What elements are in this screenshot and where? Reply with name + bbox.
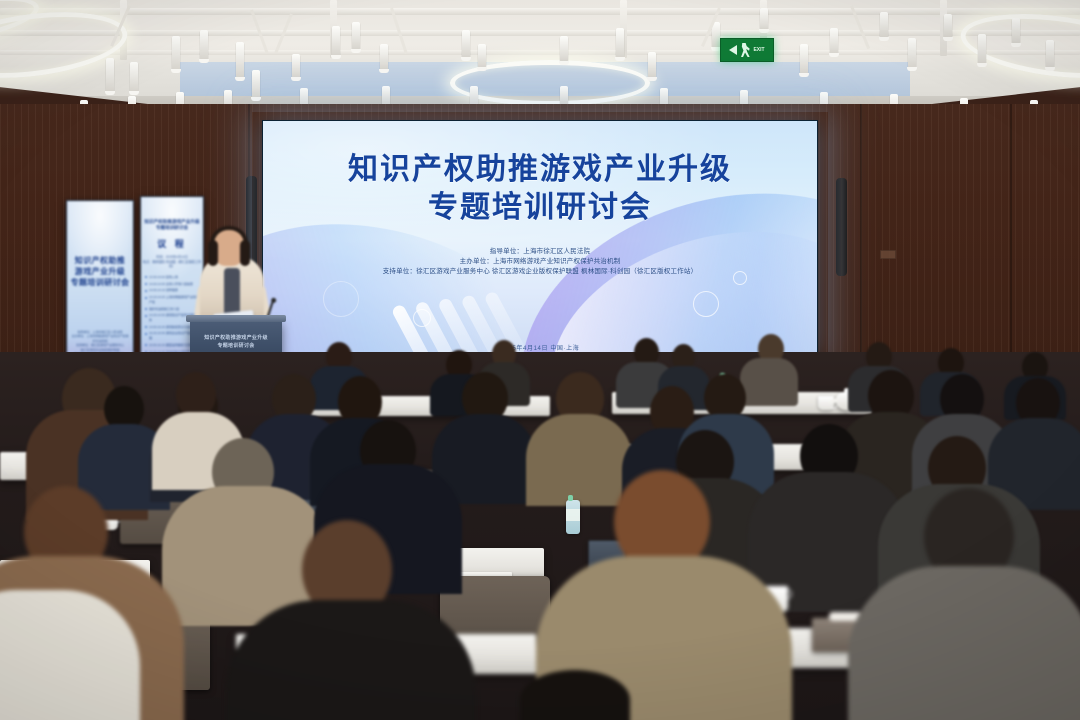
podium-sign-line2: 专题培训研讨会 — [190, 342, 282, 350]
banner-left-org-2: 主办单位：上海市网络游戏产业知识产权保护共治机制 — [71, 334, 129, 343]
banner-left-org-3: 支持单位：徐汇区游戏产业服务中心 — [71, 343, 129, 347]
ceiling-beam — [0, 30, 1080, 36]
ceiling-beam — [0, 8, 1080, 15]
screen-organizer-block: 指导单位：上海市徐汇区人民法院 主办单位：上海市网络游戏产业知识产权保护共治机制… — [263, 247, 817, 277]
banner-right-title-line2: 专题培训研讨会 — [141, 225, 203, 231]
rollup-banner-left-title: 知识产权助推 游戏产业升级 专题培训研讨会 — [67, 255, 133, 288]
screen-bubble-decor — [323, 281, 359, 317]
presenter-hair-side — [208, 240, 218, 266]
water-bottle — [566, 500, 580, 534]
exit-arrow-icon — [729, 45, 737, 55]
podium-sign: 知识产权助推游戏产业升级 专题培训研讨会 — [190, 334, 282, 350]
agenda-item: 14:05-14:15 领导致辞 — [145, 288, 199, 293]
exit-sign-label: EXIT — [753, 48, 764, 53]
screen-title: 知识产权助推游戏产业升级 专题培训研讨会 — [263, 151, 817, 227]
banner-left-title-line1: 知识产权助推 — [67, 255, 133, 266]
agenda-item: 14:15-14:25 上海市网络游戏产业知识产权 — [145, 295, 199, 304]
screen-org-line-1: 指导单位：上海市徐汇区人民法院 — [263, 247, 817, 257]
banner-right-heading: 议 程 — [141, 237, 203, 250]
screen-bubble-decor — [693, 291, 719, 317]
banner-right-subheading: 时间：2025年4月14日 地点：枫林国际·科创园（徐汇区版权工作站） — [141, 255, 203, 269]
agenda-item: 13:30-14:00 签到入场 — [145, 275, 199, 280]
banner-right-sub-2: 地点：枫林国际·科创园（徐汇区版权工作站） — [141, 260, 203, 269]
led-presentation-screen: 知识产权助推游戏产业升级 专题培训研讨会 指导单位：上海市徐汇区人民法院 主办单… — [262, 120, 818, 360]
exit-sign: EXIT — [720, 38, 774, 62]
podium-top-surface — [186, 315, 286, 322]
wall-outlet-plate — [880, 250, 896, 259]
ceiling-beam — [0, 50, 1080, 55]
screen-org-line-2: 主办单位：上海市网络游戏产业知识产权保护共治机制 — [263, 257, 817, 267]
agenda-item: 14:00-14:05 主持人开场介绍嘉宾 — [145, 282, 199, 287]
banner-left-title-line3: 专题培训研讨会 — [67, 277, 133, 288]
podium-sign-line1: 知识产权助推游戏产业升级 — [190, 334, 282, 342]
rollup-banner-right-title: 知识产权助推游戏产业升级 专题培训研讨会 — [141, 219, 203, 231]
banner-left-title-line2: 游戏产业升级 — [67, 266, 133, 277]
screen-title-line1: 知识产权助推游戏产业升级 — [348, 152, 732, 187]
presenter-hair-side — [240, 240, 250, 266]
conference-photo: EXIT 知识产权助推游戏产业升级 专题培训研讨会 指导单位：上海市徐汇区人民法… — [0, 0, 1080, 720]
screen-org-line-3: 支持单位：徐汇区游戏产业服务中心 徐汇区游戏企业版权保护联盟 枫林国际·科创园（… — [263, 267, 817, 277]
screen-bubble-decor — [413, 309, 431, 327]
agenda-item: 保护共治机制工作介绍 — [145, 307, 199, 312]
wall-speaker-right — [836, 178, 847, 276]
screen-title-line2: 专题培训研讨会 — [263, 189, 817, 227]
running-man-icon — [740, 43, 750, 57]
